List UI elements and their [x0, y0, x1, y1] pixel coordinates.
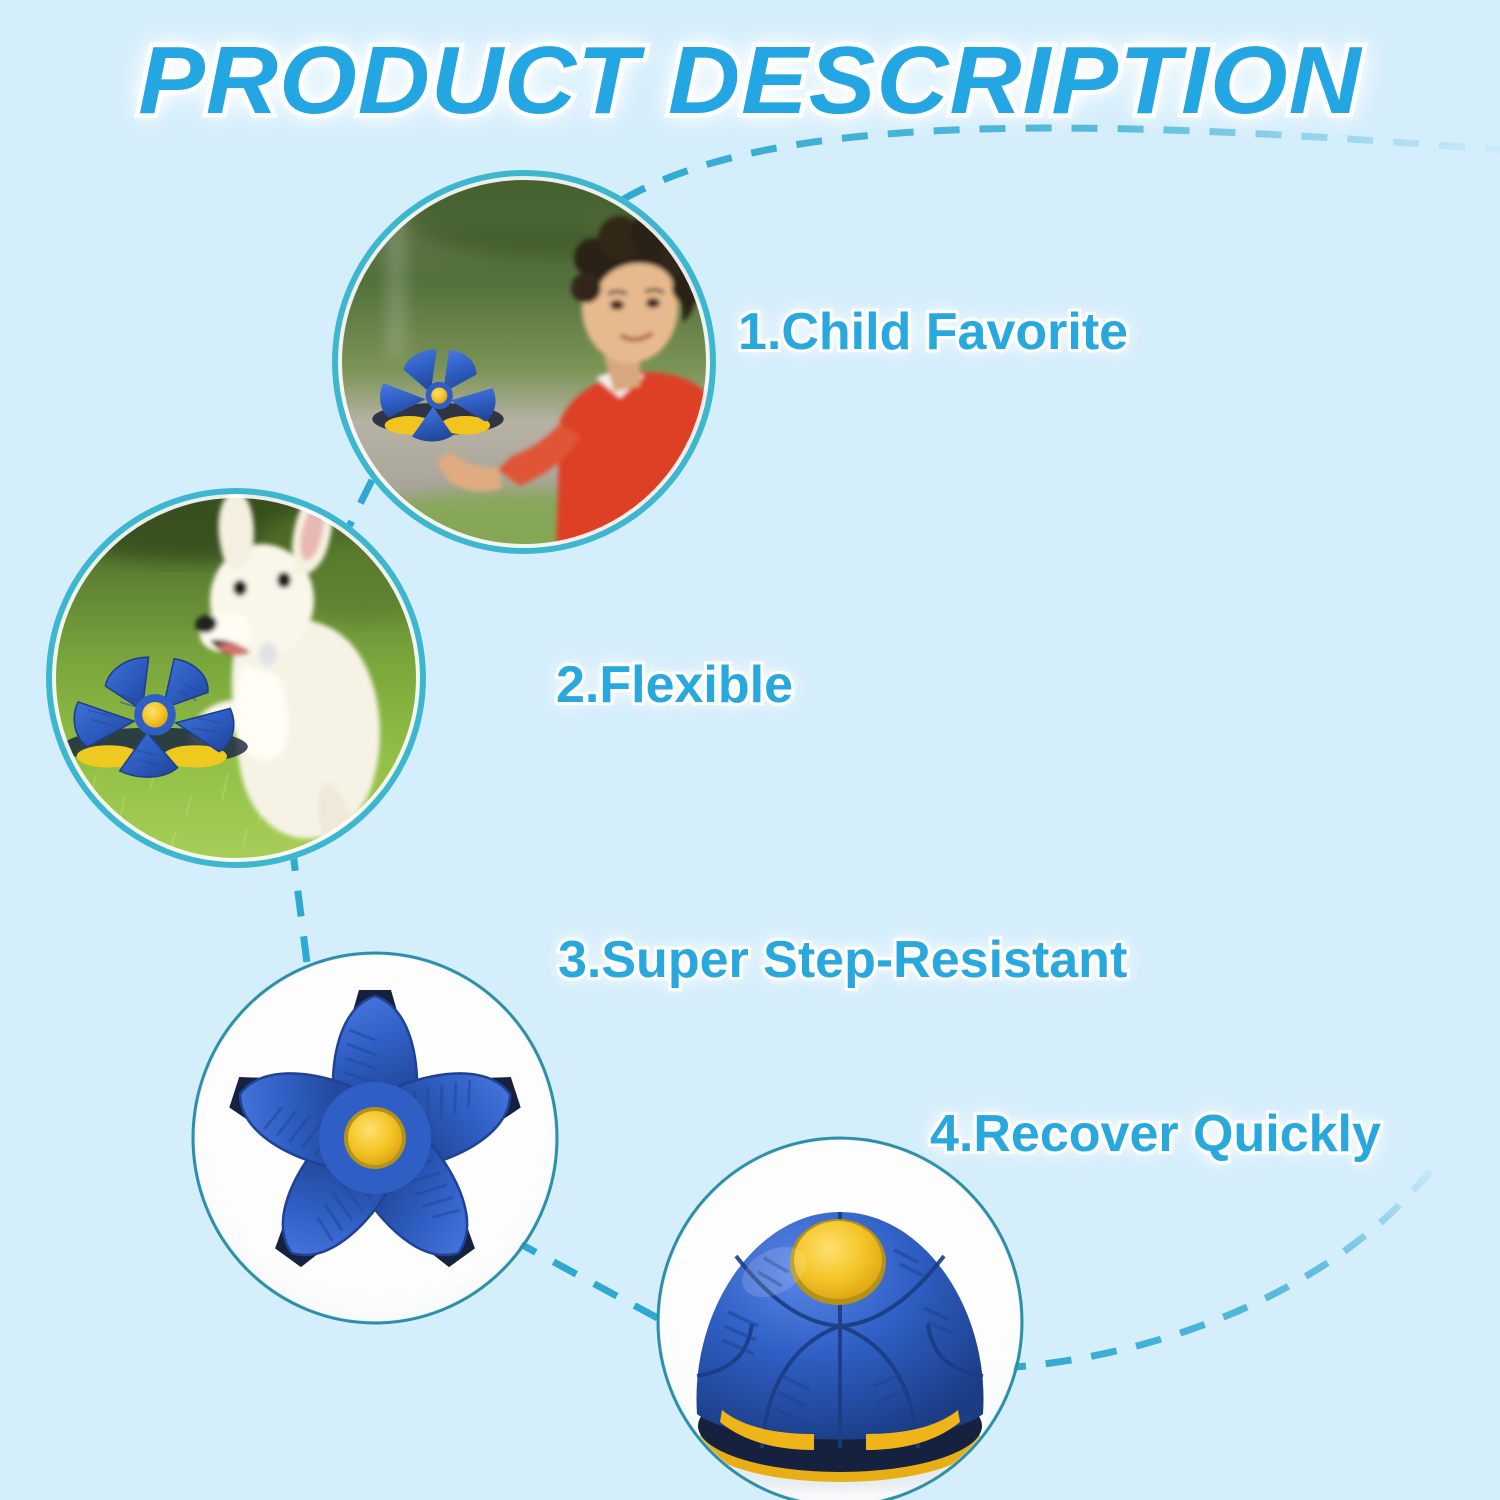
step-resistant-photo	[190, 950, 562, 1330]
recover-quickly-photo	[655, 1135, 1027, 1500]
infographic-canvas: PRODUCT DESCRIPTION	[0, 0, 1500, 1500]
feature-photos	[0, 0, 1500, 1500]
flexible-photo	[10, 458, 470, 870]
